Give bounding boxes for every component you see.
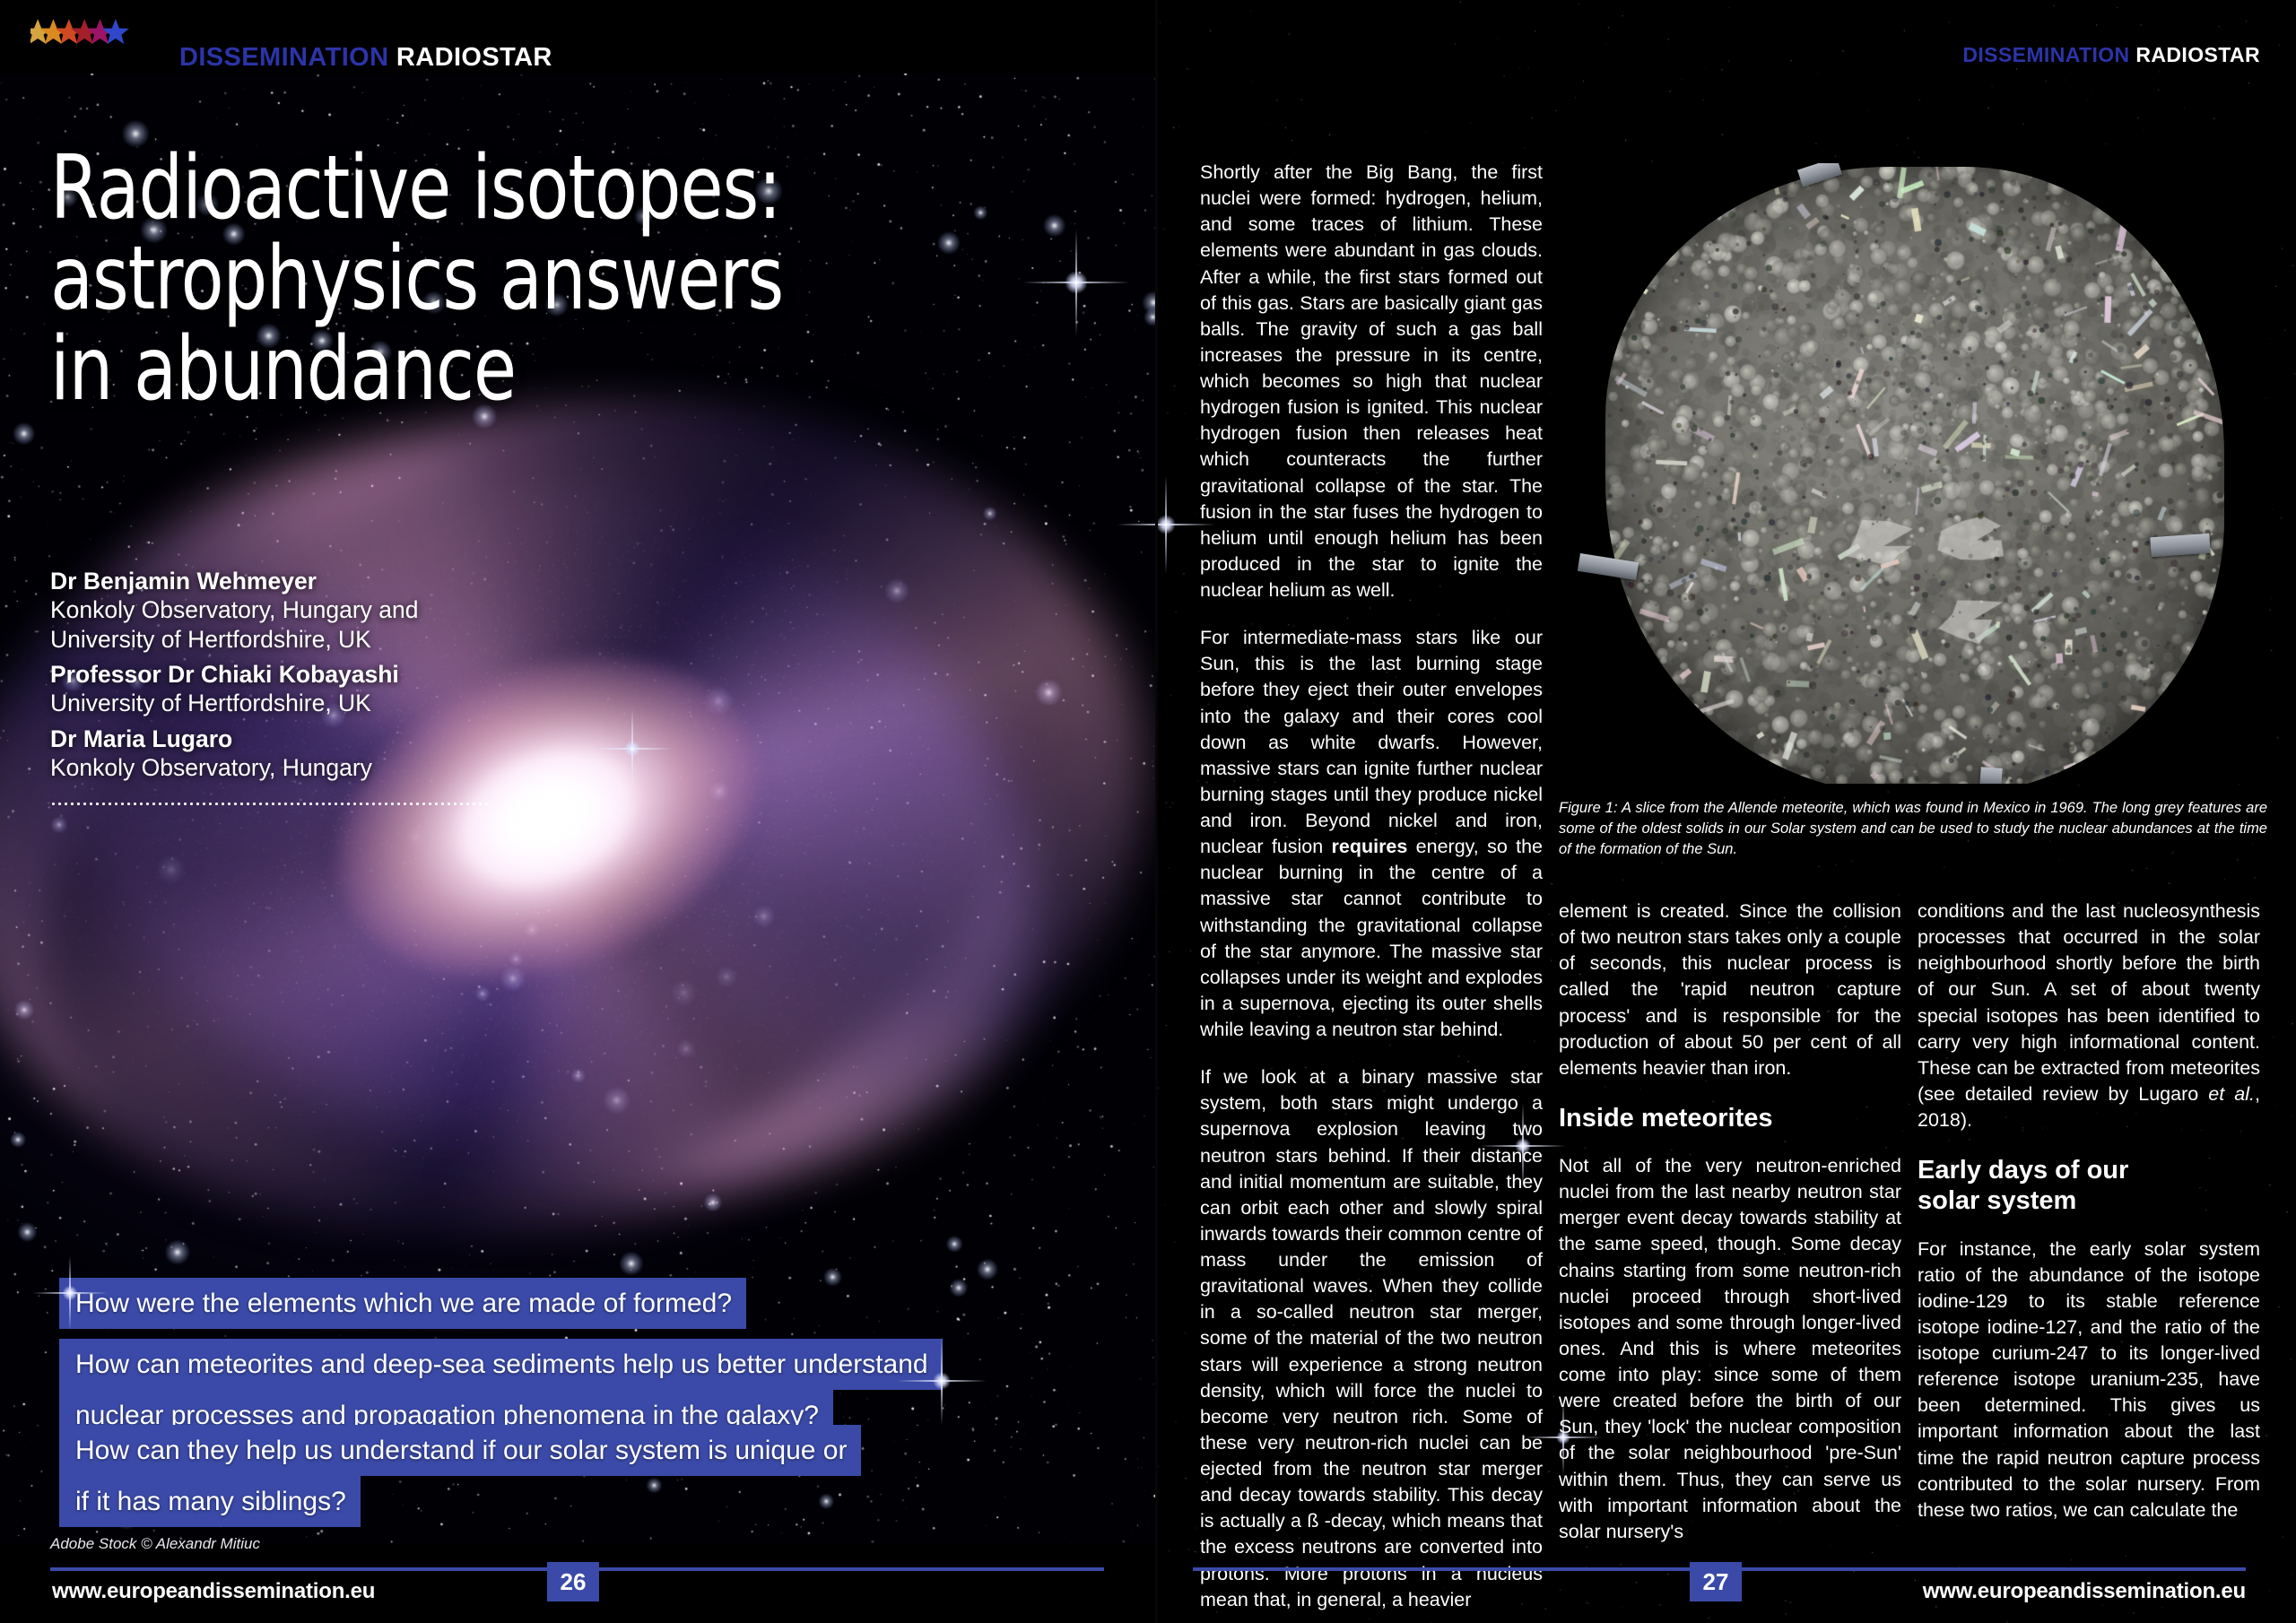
question-line: How can they help us understand if our s… <box>59 1425 861 1476</box>
author-block: Dr Benjamin Wehmeyer Konkoly Observatory… <box>50 567 606 788</box>
spiral-galaxy <box>0 282 1155 1354</box>
dotted-divider <box>50 803 490 805</box>
subheading-early-days: Early days of our solar system <box>1918 1155 2260 1216</box>
mount-clip-bottom <box>1979 767 2002 784</box>
brand-radiostar: RADIOSTAR <box>2135 43 2260 66</box>
author-affiliation: Konkoly Observatory, Hungary <box>50 753 606 782</box>
author-affiliation: University of Hertfordshire, UK <box>50 625 606 654</box>
paragraph: For intermediate-mass stars like our Sun… <box>1200 625 1543 1043</box>
author-entry: Dr Maria Lugaro Konkoly Observatory, Hun… <box>50 725 606 783</box>
page-number-left: 26 <box>547 1562 599 1601</box>
title-line-1: Radioactive isotopes: <box>50 143 897 234</box>
brand-radiostar: RADIOSTAR <box>396 43 552 72</box>
brand-dissemination: DISSEMINATION <box>1962 43 2129 66</box>
question-line: if it has many siblings? <box>59 1476 361 1527</box>
subheading-inside-meteorites: Inside meteorites <box>1559 1103 1901 1133</box>
author-entry: Professor Dr Chiaki Kobayashi University… <box>50 660 606 718</box>
meteorite-chondrule-texture <box>1605 167 2224 784</box>
body-column-2: element is created. Since the collision … <box>1559 898 1901 1545</box>
footer-url-left[interactable]: www.europeandissemination.eu <box>52 1579 375 1604</box>
body-column-1: Shortly after the Big Bang, the first nu… <box>1200 160 1543 1613</box>
title-line-3: in abundance <box>50 325 897 415</box>
body-column-3: conditions and the last nucleosynthesis … <box>1918 898 2260 1523</box>
subheading-line-2: solar system <box>1918 1186 2076 1215</box>
radiostar-logo-icon <box>30 16 165 63</box>
page-gutter <box>1155 0 1158 1623</box>
author-affiliation: Konkoly Observatory, Hungary and <box>50 595 606 624</box>
author-name: Dr Maria Lugaro <box>50 725 606 753</box>
paragraph: element is created. Since the collision … <box>1559 898 1901 1081</box>
figure-caption: Figure 1: A slice from the Allende meteo… <box>1559 798 2267 860</box>
question-line: How can meteorites and deep-sea sediment… <box>59 1339 943 1390</box>
running-head-right: DISSEMINATION RADIOSTAR <box>1962 43 2260 67</box>
author-name: Professor Dr Chiaki Kobayashi <box>50 660 606 689</box>
running-head-left: DISSEMINATION RADIOSTAR <box>179 43 552 73</box>
paragraph: Not all of the very neutron-enriched nuc… <box>1559 1153 1901 1545</box>
magazine-spread: DISSEMINATION RADIOSTAR DISSEMINATION RA… <box>0 0 2296 1623</box>
brand-dissemination: DISSEMINATION <box>179 43 388 72</box>
pull-question-3: How can they help us understand if our s… <box>59 1425 861 1527</box>
page-number-right: 27 <box>1690 1562 1742 1601</box>
title-line-2: astrophysics answers <box>50 234 897 325</box>
paragraph: For instance, the early solar system rat… <box>1918 1237 2260 1523</box>
image-credit: Adobe Stock © Alexandr Mitiuc <box>50 1535 260 1553</box>
pull-question-1: How were the elements which we are made … <box>59 1278 746 1329</box>
question-line: How were the elements which we are made … <box>59 1278 746 1329</box>
paragraph: Shortly after the Big Bang, the first nu… <box>1200 160 1543 603</box>
paragraph: If we look at a binary massive star syst… <box>1200 1064 1543 1613</box>
article-title: Radioactive isotopes: astrophysics answe… <box>50 143 897 415</box>
footer-url-right[interactable]: www.europeandissemination.eu <box>1923 1579 2246 1604</box>
author-name: Dr Benjamin Wehmeyer <box>50 567 606 595</box>
mount-clip-right <box>2150 534 2210 558</box>
author-affiliation: University of Hertfordshire, UK <box>50 689 606 717</box>
subheading-line-1: Early days of our <box>1918 1156 2128 1185</box>
author-entry: Dr Benjamin Wehmeyer Konkoly Observatory… <box>50 567 606 654</box>
meteorite-slice <box>1605 167 2224 784</box>
paragraph: conditions and the last nucleosynthesis … <box>1918 898 2260 1133</box>
figure-meteorite-image <box>1559 163 2264 784</box>
